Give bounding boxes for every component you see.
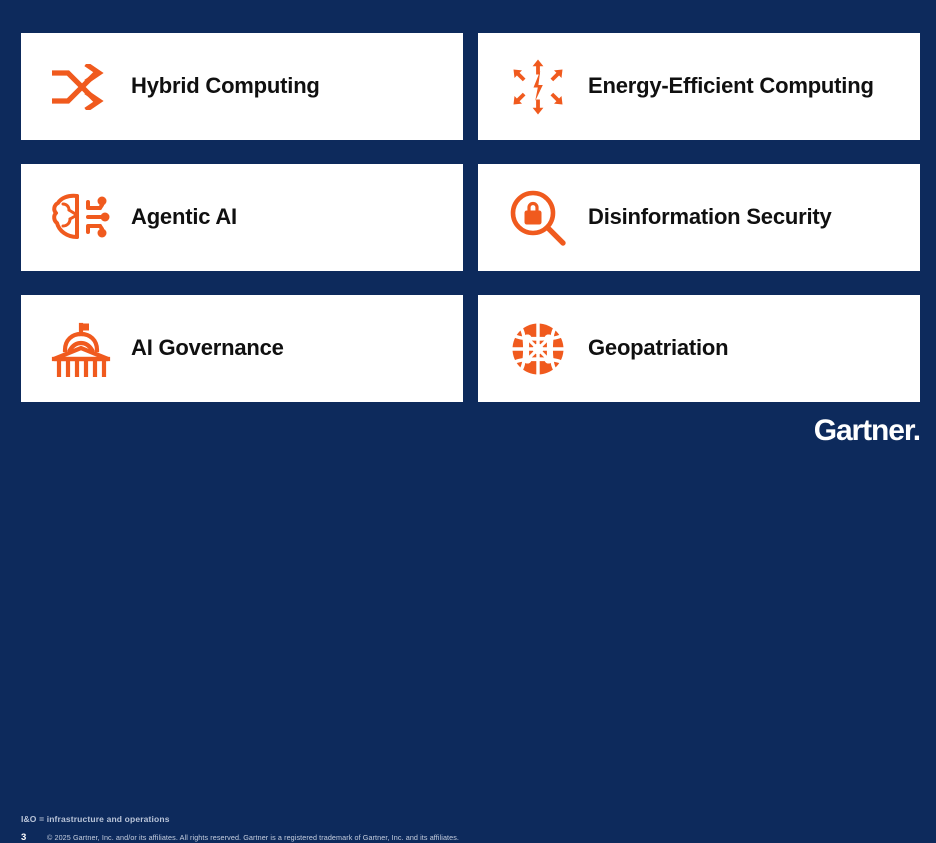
gartner-logo-mark: . xyxy=(913,414,920,447)
card-hybrid-computing[interactable]: Hybrid Computing xyxy=(21,33,463,140)
card-label: Energy-Efficient Computing xyxy=(588,73,874,100)
copyright-row: 3 © 2025 Gartner, Inc. and/or its affili… xyxy=(21,832,459,843)
globe-network-icon xyxy=(500,313,576,385)
copyright-text: © 2025 Gartner, Inc. and/or its affiliat… xyxy=(47,833,459,842)
page-number: 3 xyxy=(21,832,47,843)
card-ai-governance[interactable]: AI Governance xyxy=(21,295,463,402)
topic-card-grid: Hybrid Computing Energy-Efficient C xyxy=(21,33,915,402)
card-label: Disinformation Security xyxy=(588,204,832,231)
card-geopatriation[interactable]: Geopatriation xyxy=(478,295,920,402)
gartner-logo: Gartner. xyxy=(814,414,920,448)
footnote-text: I&O = infrastructure and operations xyxy=(21,814,170,824)
card-energy-efficient-computing[interactable]: Energy-Efficient Computing xyxy=(478,33,920,140)
government-building-icon xyxy=(43,313,119,385)
card-label: Geopatriation xyxy=(588,335,728,362)
card-agentic-ai[interactable]: Agentic AI xyxy=(21,164,463,271)
magnifier-lock-icon xyxy=(500,182,576,254)
slide-canvas: Hybrid Computing Energy-Efficient C xyxy=(0,0,936,460)
card-disinformation-security[interactable]: Disinformation Security xyxy=(478,164,920,271)
brain-circuit-icon xyxy=(43,182,119,254)
lightning-bolt-radiating-arrows-icon xyxy=(500,51,576,123)
card-label: AI Governance xyxy=(131,335,284,362)
card-label: Hybrid Computing xyxy=(131,73,320,100)
card-label: Agentic AI xyxy=(131,204,237,231)
slide-footer: I&O = infrastructure and operations 3 © … xyxy=(0,402,936,460)
gartner-logo-text: Gartner xyxy=(814,414,913,447)
shuffle-arrows-icon xyxy=(43,51,119,123)
